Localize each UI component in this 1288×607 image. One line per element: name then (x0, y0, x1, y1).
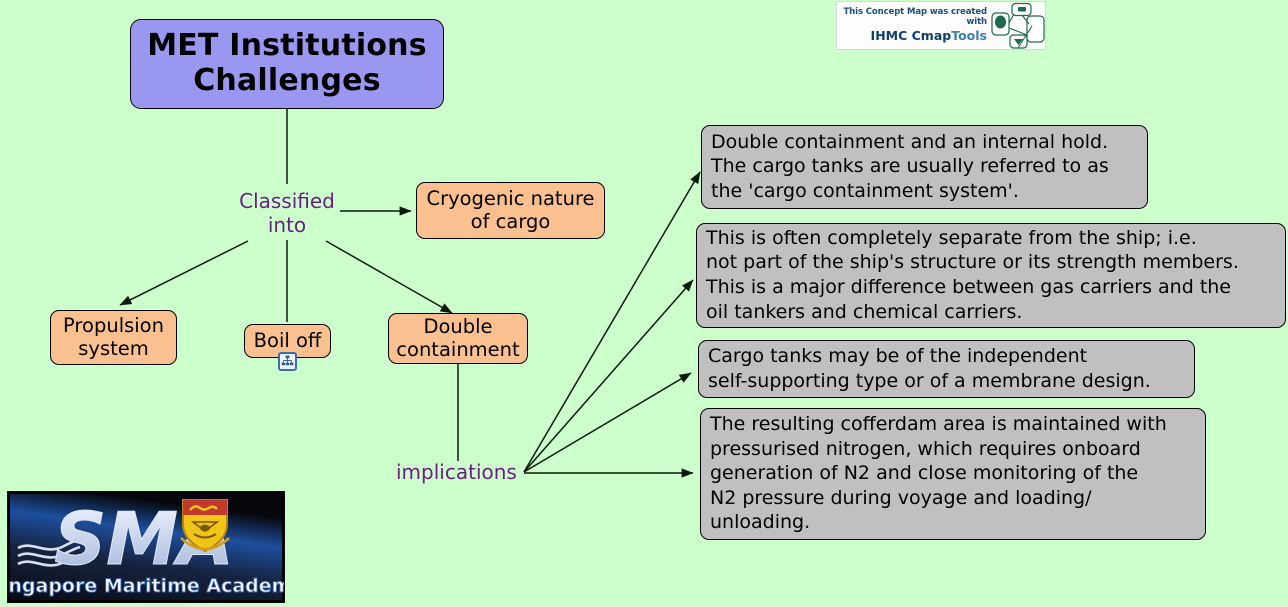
cmaptools-watermark-line2: IHMC CmapTools (841, 29, 987, 43)
link-label-implications[interactable]: implications (396, 461, 524, 485)
note-separate-from-ship[interactable]: This is often completely separate from t… (696, 223, 1286, 328)
cmaptools-watermark-brand-suffix: Tools (951, 28, 987, 43)
concept-map-canvas: MET Institutions Challenges Classified i… (0, 0, 1288, 607)
node-double-containment[interactable]: Double containment (388, 313, 528, 364)
note-double-containment-internal-hold[interactable]: Double containment and an internal hold.… (701, 125, 1148, 209)
note-cofferdam-pressurised-nitrogen[interactable]: The resulting cofferdam area is maintain… (700, 408, 1206, 540)
cmaptools-watermark-text: This Concept Map was created with IHMC C… (837, 8, 987, 42)
edge-classified-to-double-containment (326, 241, 452, 313)
singapore-maritime-academy-logo: SMA Singapore Maritime Academy (7, 491, 285, 603)
sma-caption: Singapore Maritime Academy (8, 575, 284, 597)
node-propulsion-system[interactable]: Propulsion system (50, 310, 177, 365)
edge-implications-to-note2 (524, 280, 693, 472)
cmaptools-logo-icon (987, 2, 1045, 50)
cmaptools-watermark-line1: This Concept Map was created with (841, 8, 987, 27)
cmaptools-watermark: This Concept Map was created with IHMC C… (836, 1, 1046, 50)
edge-classified-to-propulsion (120, 241, 248, 305)
note-independent-self-supporting-type[interactable]: Cargo tanks may be of the independent se… (698, 340, 1195, 398)
cmap-resource-link-icon[interactable] (278, 352, 297, 371)
edge-implications-to-note3 (524, 373, 691, 472)
node-cryogenic-nature-of-cargo[interactable]: Cryogenic nature of cargo (416, 182, 605, 239)
link-label-classified-into[interactable]: Classified into (227, 190, 347, 237)
cmaptools-watermark-brand: IHMC Cmap (871, 28, 952, 43)
node-met-institutions-challenges[interactable]: MET Institutions Challenges (130, 19, 444, 109)
